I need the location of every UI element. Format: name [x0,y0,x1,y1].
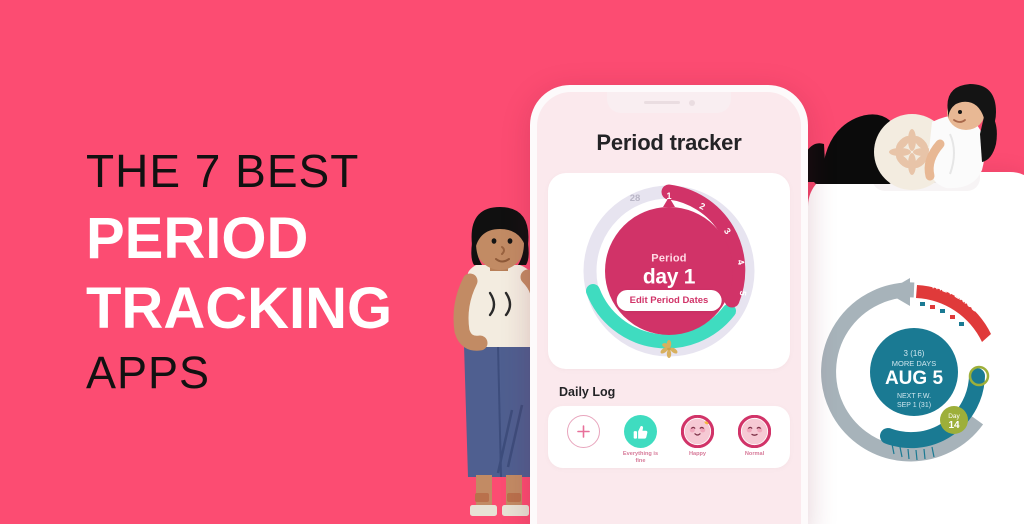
phone-screen-primary: Period tracker 1 2 3 4 [537,92,801,524]
daily-log-card: Everything is fine [548,406,790,468]
phone-notch-primary [607,92,731,113]
promo-banner: THE 7 BEST PERIOD TRACKING APPS [0,0,1024,524]
woman-reclining-illustration [800,78,1000,203]
daily-log-caption-happy: Happy [676,451,720,458]
front-camera-icon [689,100,695,106]
headline-line-4: APPS [86,350,486,395]
wheel-center-top: 3 (16) [904,349,925,358]
wheel-center-date: AUG 5 [885,368,944,389]
wheel-center-sub: MORE DAYS [892,359,936,368]
period-cycle-ring[interactable]: 1 2 3 4 5 28 [577,179,761,363]
day-badge-label: Day [948,413,960,420]
headline-line-1: THE 7 BEST [86,148,486,194]
daily-log-item-normal[interactable]: Normal [733,415,777,458]
daily-log-item-add[interactable] [562,415,606,451]
daily-log-item-happy[interactable]: Happy [676,415,720,458]
app-title: Period tracker [537,130,801,156]
ring-day-marker-1: 1 [666,191,671,201]
speaker-grille-icon [644,101,680,104]
ring-day-marker-5: 5 [738,290,748,296]
thumbs-up-icon[interactable] [624,415,657,448]
period-ring-card: 1 2 3 4 5 28 [548,173,790,369]
daily-log-item-everything-fine[interactable]: Everything is fine [619,415,663,465]
headline-line-2: PERIOD [86,210,486,268]
daily-log-caption-normal: Normal [733,451,777,458]
ring-cycle-total-marker: 28 [630,193,641,204]
phone-mockup-primary: Period tracker 1 2 3 4 [530,85,808,524]
phone-mockup-secondary: 3 (16) MORE DAYS AUG 5 NEXT F.W. SEP 1 (… [808,172,1024,524]
daily-log-caption-everything-fine: Everything is fine [619,451,663,465]
edit-period-dates-button[interactable]: Edit Period Dates [617,290,722,311]
daily-log-heading: Daily Log [559,385,801,399]
plus-icon[interactable] [567,415,600,448]
wheel-center-next-2: SEP 1 (31) [897,402,931,409]
cycle-wheel-widget[interactable]: 3 (16) MORE DAYS AUG 5 NEXT F.W. SEP 1 (… [814,272,1014,472]
happy-face-icon[interactable] [681,415,714,448]
headline-line-3: TRACKING [86,280,486,338]
day-badge-number: 14 [948,420,960,431]
headline-block: THE 7 BEST PERIOD TRACKING APPS [86,148,486,395]
neutral-face-icon[interactable] [738,415,771,448]
wheel-center-next-1: NEXT F.W. [897,393,931,400]
